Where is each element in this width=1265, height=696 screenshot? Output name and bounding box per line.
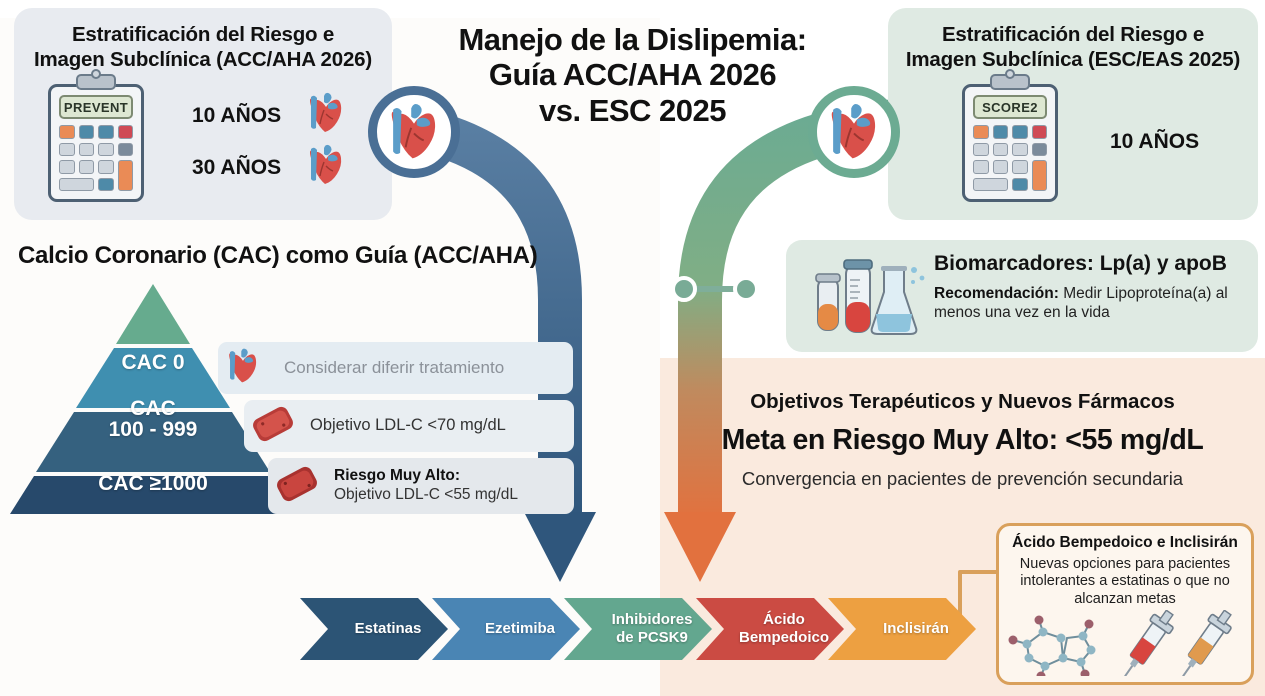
score2-calculator-icon: SCORE2 bbox=[962, 84, 1058, 202]
flow-step-2-label[interactable]: Ezetimiba bbox=[460, 621, 580, 638]
cac-detail-row-2: Objetivo LDL-C <70 mg/dL bbox=[244, 400, 574, 452]
flow-step-3-label-line2[interactable]: de PCSK9 bbox=[592, 630, 712, 647]
clipboard-clip-icon bbox=[76, 74, 116, 90]
left-horizon-30-years: 30 AÑOS bbox=[192, 156, 281, 180]
biomarkers-panel: Biomarcadores: Lp(a) y apoB Recomendació… bbox=[786, 240, 1258, 352]
artery-icon-row-2 bbox=[250, 404, 298, 449]
syringe-icon-2 bbox=[1173, 610, 1237, 676]
right-panel-title: Estratificación del Riesgo e Imagen Subc… bbox=[900, 22, 1246, 72]
infographic-canvas: Manejo de la Dislipemia: Guía ACC/AHA 20… bbox=[0, 0, 1265, 696]
left-panel-title-line-2: Imagen Subclínica (ACC/AHA 2026) bbox=[26, 47, 380, 72]
heart-circle-badge-esc bbox=[808, 86, 900, 178]
objectives-main-target: Meta en Riesgo Muy Alto: <55 mg/dL bbox=[660, 424, 1265, 457]
calculator-screen-label: PREVENT bbox=[59, 95, 133, 119]
main-title-line-2: Guía ACC/AHA 2026 bbox=[400, 57, 865, 92]
left-panel-title: Estratificación del Riesgo e Imagen Subc… bbox=[26, 22, 380, 72]
main-title: Manejo de la Dislipemia: Guía ACC/AHA 20… bbox=[400, 22, 865, 128]
artery-blocked-icon-row-3 bbox=[274, 464, 322, 509]
cac-section-heading: Calcio Coronario (CAC) como Guía (ACC/AH… bbox=[18, 242, 537, 270]
pyramid-apex bbox=[116, 284, 190, 344]
right-horizon-10-years: 10 AÑOS bbox=[1110, 130, 1199, 154]
risk-stratification-esc-eas-panel: Estratificación del Riesgo e Imagen Subc… bbox=[888, 8, 1258, 220]
heart-icon-small-1 bbox=[304, 90, 348, 136]
biomarkers-title: Biomarcadores: Lp(a) y apoB bbox=[934, 252, 1227, 276]
new-drugs-icons bbox=[999, 610, 1251, 676]
cac-detail-text-2: Objetivo LDL-C <70 mg/dL bbox=[310, 416, 506, 436]
left-horizon-10-years: 10 AÑOS bbox=[192, 104, 281, 128]
cac-detail-bold-3: Riesgo Muy Alto: bbox=[334, 467, 460, 484]
main-title-line-3: vs. ESC 2025 bbox=[400, 93, 865, 128]
new-drugs-title: Ácido Bempedoico e Inclisirán bbox=[1005, 534, 1245, 552]
right-panel-title-line-1: Estratificación del Riesgo e bbox=[900, 22, 1246, 47]
test-tubes-icon bbox=[810, 258, 928, 338]
main-title-line-1: Manejo de la Dislipemia: bbox=[400, 22, 865, 57]
molecule-icon bbox=[1013, 620, 1091, 676]
cac-detail-row-3: Riesgo Muy Alto: Objetivo LDL-C <55 mg/d… bbox=[268, 458, 574, 514]
flow-step-1-label[interactable]: Estatinas bbox=[328, 621, 448, 638]
calculator-keypad bbox=[59, 125, 133, 191]
objectives-heading: Objetivos Terapéuticos y Nuevos Fármacos bbox=[660, 390, 1265, 414]
right-panel-title-line-2: Imagen Subclínica (ESC/EAS 2025) bbox=[900, 47, 1246, 72]
flow-step-4-label-line1[interactable]: Ácido bbox=[724, 612, 844, 629]
flow-step-3-label-line1[interactable]: Inhibidores bbox=[592, 612, 712, 629]
cac-tier-3-label: CAC ≥1000 bbox=[8, 473, 298, 495]
prevent-calculator-icon: PREVENT bbox=[48, 84, 144, 202]
biomarkers-rec-label: Recomendación: bbox=[934, 285, 1059, 302]
cac-detail-text-3: Objetivo LDL-C <55 mg/dL bbox=[334, 486, 518, 503]
flow-step-5-label[interactable]: Inclisirán bbox=[856, 621, 976, 638]
cac-detail-row-1: Considerar diferir tratamiento bbox=[218, 342, 573, 394]
cac-detail-text-1: Considerar diferir tratamiento bbox=[284, 358, 504, 378]
new-drugs-card: Ácido Bempedoico e Inclisirán Nuevas opc… bbox=[996, 523, 1254, 685]
risk-stratification-acc-aha-panel: Estratificación del Riesgo e Imagen Subc… bbox=[14, 8, 392, 220]
biomarkers-recommendation: Recomendación: Medir Lipoproteína(a) al … bbox=[934, 284, 1249, 322]
left-panel-title-line-1: Estratificación del Riesgo e bbox=[26, 22, 380, 47]
clipboard-clip-icon-2 bbox=[990, 74, 1030, 90]
heart-circle-badge-acc bbox=[368, 86, 460, 178]
calculator-keypad-2 bbox=[973, 125, 1047, 191]
new-drugs-body: Nuevas opciones para pacientes intoleran… bbox=[1007, 556, 1243, 608]
heart-icon-small-2 bbox=[304, 142, 348, 188]
syringe-icon-1 bbox=[1115, 610, 1179, 676]
objectives-subtitle: Convergencia en pacientes de prevención … bbox=[660, 468, 1265, 490]
flow-step-4-label-line2[interactable]: Bempedoico bbox=[724, 630, 844, 647]
heart-icon-row-1 bbox=[224, 346, 268, 391]
calculator-screen-label-2: SCORE2 bbox=[973, 95, 1047, 119]
